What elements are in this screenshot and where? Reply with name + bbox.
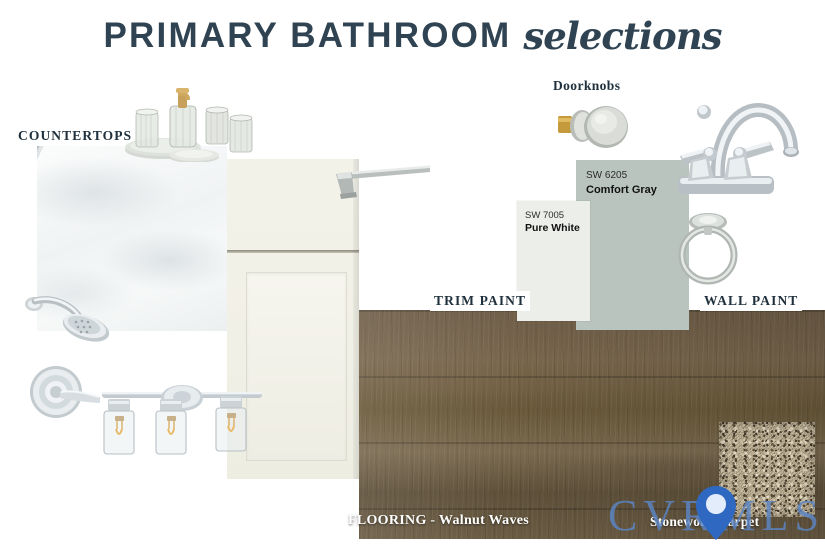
label-doorknobs: Doorknobs [553, 78, 620, 94]
showerhead-icon [20, 288, 120, 360]
wall-paint-code: SW 6205 [586, 170, 657, 183]
wall-paint-text: SW 6205 Comfort Gray [586, 170, 657, 197]
cabinet-drawer-line [227, 250, 359, 253]
towel-ring-icon [668, 210, 748, 285]
label-countertops: COUNTERTOPS [18, 128, 132, 144]
carpet-swatch [719, 422, 815, 517]
trim-paint-text: SW 7005 Pure White [525, 210, 580, 236]
page-title-main: PRIMARY BATHROOM [104, 16, 512, 55]
trim-paint-code: SW 7005 [525, 210, 580, 222]
label-trim-paint: TRIM PAINT [430, 291, 530, 311]
towel-bar-icon [330, 164, 435, 209]
label-carpet: Stonework Carpet [650, 514, 759, 530]
page-title: PRIMARY BATHROOMselections [0, 14, 825, 58]
trim-paint-name: Pure White [525, 222, 580, 235]
vanity-light-icon [96, 372, 271, 456]
page-title-script: selections [523, 14, 721, 58]
label-wall-paint: WALL PAINT [700, 291, 802, 311]
wall-paint-name: Comfort Gray [586, 183, 657, 197]
design-board: PRIMARY BATHROOMselections SW 6205 Comfo… [0, 0, 825, 549]
bath-accessory-set-icon [118, 80, 258, 162]
label-flooring: FLOORING - Walnut Waves [348, 513, 529, 529]
doorknob-icon [556, 102, 638, 152]
faucet-icon [658, 86, 806, 218]
